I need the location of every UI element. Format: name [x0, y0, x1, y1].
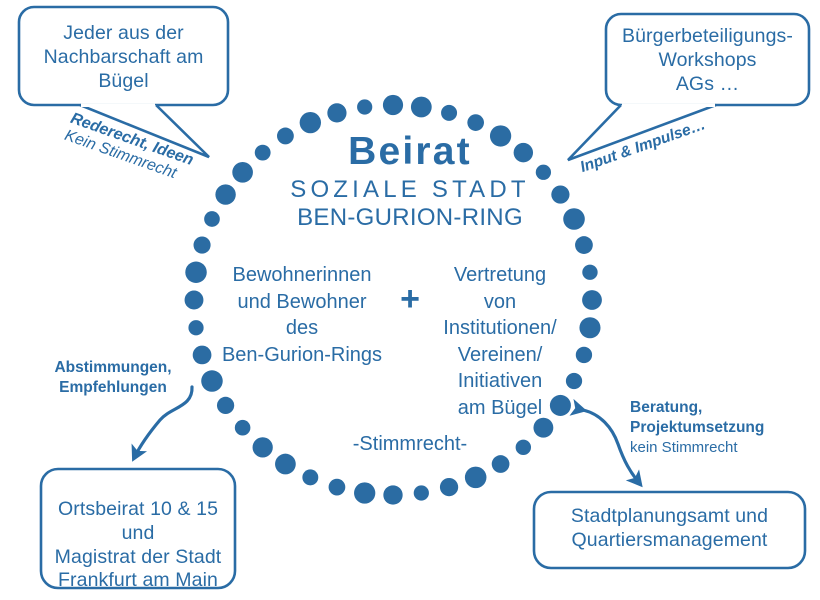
- center-left-line-1: Bewohnerinnen: [210, 262, 394, 289]
- center-right-line-3: Institutionen/: [424, 315, 576, 342]
- box-bottom-right-line-1: Stadtplanungsamt und: [534, 505, 805, 529]
- ring-dot: [354, 482, 375, 503]
- bubble-top-left-text: Jeder aus der Nachbarschaft am Bügel: [19, 22, 228, 93]
- ring-dot: [440, 478, 458, 496]
- ring-dot: [235, 420, 251, 436]
- center-left-line-4: Ben-Gurion-Rings: [210, 342, 394, 369]
- center-right-line-6: am Bügel: [424, 395, 576, 422]
- center-right-column: Vertretung von Institutionen/ Vereinen/ …: [424, 262, 576, 422]
- bubble-top-right-text: Bürgerbeteiligungs- Workshops AGs …: [606, 25, 809, 96]
- ring-dot: [215, 184, 235, 204]
- ring-dot: [188, 320, 203, 335]
- ring-dot: [411, 97, 432, 118]
- ring-dot: [576, 347, 592, 363]
- ring-dot: [329, 479, 346, 496]
- ring-dot: [275, 454, 296, 475]
- annotation-bottom-right-line-3: kein Stimmrecht: [630, 438, 800, 457]
- page-subtitle-2: BEN-GURION-RING: [250, 203, 570, 232]
- ring-dot: [194, 237, 211, 254]
- box-bottom-left-line-3: Magistrat der Stadt: [41, 546, 235, 570]
- ring-dot: [579, 317, 600, 338]
- annotation-bottom-right-line-1: Beratung,: [630, 398, 800, 418]
- bubble-top-left-line-2: Nachbarschaft am: [19, 46, 228, 70]
- bubble-top-right-line-3: AGs …: [606, 73, 809, 97]
- bubble-top-left-line-3: Bügel: [19, 70, 228, 94]
- box-bottom-left-line-4: Frankfurt am Main: [41, 569, 235, 593]
- center-left-line-2: und Bewohner: [210, 289, 394, 316]
- ring-dot: [193, 346, 212, 365]
- ring-dot: [217, 397, 234, 414]
- page-subtitle-1: SOZIALE STADT: [250, 175, 570, 204]
- ring-dot: [582, 290, 602, 310]
- page-title: Beirat: [250, 128, 570, 176]
- box-bottom-left-text: Ortsbeirat 10 & 15 und Magistrat der Sta…: [41, 498, 235, 593]
- ring-dot: [327, 103, 346, 122]
- diagram-canvas: Jeder aus der Nachbarschaft am Bügel Bür…: [0, 0, 820, 600]
- center-right-line-1: Vertretung: [424, 262, 576, 289]
- annotation-bottom-left-line-2: Empfehlungen: [48, 378, 178, 398]
- ring-dot: [575, 236, 593, 254]
- annotation-bottom-left-line-1: Abstimmungen,: [48, 358, 178, 378]
- box-bottom-left-line-2: und: [41, 522, 235, 546]
- annotation-bottom-right: Beratung, Projektumsetzung kein Stimmrec…: [630, 398, 800, 457]
- ring-dot: [383, 95, 403, 115]
- bubble-top-right-line-2: Workshops: [606, 49, 809, 73]
- ring-dot: [383, 485, 402, 504]
- center-right-line-5: Initiativen: [424, 368, 576, 395]
- ring-dot: [302, 469, 318, 485]
- ring-dot: [185, 291, 204, 310]
- ring-dot: [204, 211, 220, 227]
- ring-dot: [201, 370, 223, 392]
- box-bottom-left-line-1: Ortsbeirat 10 & 15: [41, 498, 235, 522]
- ring-dot: [465, 467, 487, 489]
- center-right-line-2: von: [424, 289, 576, 316]
- ring-dot: [492, 455, 510, 473]
- ring-dot: [582, 265, 597, 280]
- annotation-bottom-left: Abstimmungen, Empfehlungen: [48, 358, 178, 398]
- bubble-top-right-line-1: Bürgerbeteiligungs-: [606, 25, 809, 49]
- ring-dot: [441, 105, 457, 121]
- center-right-line-4: Vereinen/: [424, 342, 576, 369]
- annotation-bottom-right-line-2: Projektumsetzung: [630, 418, 800, 438]
- ring-dot: [253, 437, 273, 457]
- center-left-column: Bewohnerinnen und Bewohner des Ben-Gurio…: [210, 262, 394, 368]
- ring-dot: [414, 485, 429, 500]
- bubble-top-left-line-1: Jeder aus der: [19, 22, 228, 46]
- box-bottom-right-line-2: Quartiersmanagement: [534, 529, 805, 553]
- box-bottom-right-text: Stadtplanungsamt und Quartiersmanagement: [534, 505, 805, 553]
- ring-dot: [185, 262, 206, 283]
- center-left-line-3: des: [210, 315, 394, 342]
- ring-dot: [357, 99, 372, 114]
- center-footer-label: -Stimmrecht-: [300, 432, 520, 456]
